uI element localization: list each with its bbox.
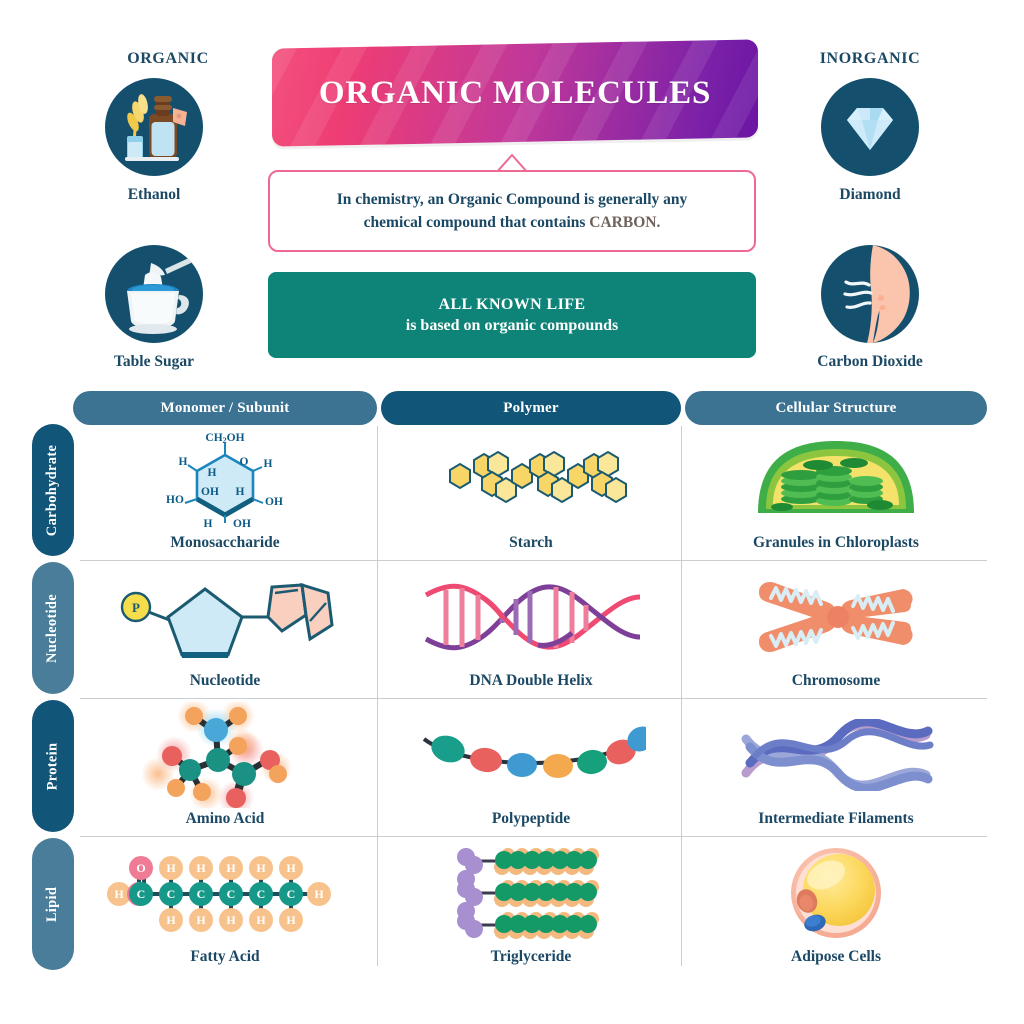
- svg-text:H: H: [196, 913, 206, 927]
- cell-nucleotide-cellular: Chromosome: [685, 562, 987, 694]
- svg-text:OH: OH: [201, 486, 219, 498]
- cell-caption: Polypeptide: [492, 810, 570, 828]
- example-ethanol: Ethanol: [54, 78, 254, 204]
- exhaling-face-icon: [821, 245, 919, 343]
- cell-caption: Intermediate Filaments: [758, 810, 913, 828]
- column-divider: [681, 426, 682, 966]
- svg-text:H: H: [226, 913, 236, 927]
- chloroplast-granules-icon: [685, 424, 987, 534]
- svg-text:CH2OH: CH2OH: [205, 432, 244, 445]
- svg-text:OH: OH: [233, 518, 251, 529]
- row-label-nucleotide: Nucleotide: [32, 562, 74, 694]
- example-label: Ethanol: [54, 186, 254, 204]
- cell-caption: Adipose Cells: [791, 948, 881, 966]
- example-label: Table Sugar: [54, 353, 254, 371]
- triglyceride-icon: [381, 838, 681, 948]
- cell-caption: Amino Acid: [186, 810, 265, 828]
- sugar-cup-icon: [105, 245, 203, 343]
- svg-text:H: H: [226, 861, 236, 875]
- cell-lipid-monomer: H O O C C C C C C: [73, 838, 377, 970]
- ethanol-bottle-icon: [105, 78, 203, 176]
- cell-nucleotide-monomer: P Nucleotide: [73, 562, 377, 694]
- svg-text:H: H: [264, 458, 273, 470]
- callout-carbon-highlight: CARBON.: [589, 214, 660, 231]
- row-label-text: Carbohydrate: [45, 444, 62, 535]
- svg-text:O: O: [136, 861, 145, 875]
- svg-text:H: H: [166, 861, 176, 875]
- example-label: Carbon Dioxide: [770, 353, 970, 371]
- nucleotide-icon: P: [73, 562, 377, 672]
- inorganic-category-label: INORGANIC: [770, 50, 970, 68]
- starch-icon: [381, 424, 681, 534]
- example-diamond: Diamond: [770, 78, 970, 204]
- cell-caption: Chromosome: [792, 672, 880, 690]
- cell-protein-cellular: Intermediate Filaments: [685, 700, 987, 832]
- row-divider: [80, 836, 987, 837]
- cell-protein-monomer: Amino Acid: [73, 700, 377, 832]
- row-divider: [80, 560, 987, 561]
- svg-text:C: C: [167, 887, 176, 901]
- row-divider: [80, 698, 987, 699]
- cell-caption: Fatty Acid: [190, 948, 259, 966]
- banner-line-1: ALL KNOWN LIFE: [439, 296, 586, 314]
- infographic-canvas: ORGANIC INORGANIC: [0, 0, 1024, 1024]
- callout-pointer: [495, 152, 529, 172]
- top-section: ORGANIC INORGANIC: [0, 0, 1024, 380]
- svg-text:H: H: [114, 887, 124, 901]
- cell-caption: DNA Double Helix: [469, 672, 592, 690]
- cell-caption: Starch: [509, 534, 553, 552]
- banner-line-2: is based on organic compounds: [406, 317, 619, 335]
- row-label-carbohydrate: Carbohydrate: [32, 424, 74, 556]
- example-carbon-dioxide: Carbon Dioxide: [770, 245, 970, 371]
- diamond-icon: [821, 78, 919, 176]
- svg-text:H: H: [286, 861, 296, 875]
- svg-text:H: H: [256, 913, 266, 927]
- row-label-text: Nucleotide: [45, 593, 62, 662]
- column-header-polymer: Polymer: [381, 391, 681, 425]
- svg-text:O: O: [240, 456, 249, 468]
- fatty-acid-icon: H O O C C C C C C: [73, 838, 377, 948]
- cell-nucleotide-polymer: DNA Double Helix: [381, 562, 681, 694]
- callout-line-2-text: chemical compound that contains: [364, 214, 590, 231]
- column-divider: [377, 426, 378, 966]
- svg-text:H: H: [179, 456, 188, 468]
- cell-protein-polymer: Polypeptide: [381, 700, 681, 832]
- svg-text:C: C: [137, 887, 146, 901]
- polypeptide-icon: [381, 700, 681, 810]
- svg-text:H: H: [196, 861, 206, 875]
- svg-text:P: P: [132, 600, 140, 615]
- page-title: ORGANIC MOLECULES: [272, 44, 758, 142]
- column-header-cellular-structure: Cellular Structure: [685, 391, 987, 425]
- svg-text:H: H: [286, 913, 296, 927]
- svg-text:C: C: [287, 887, 296, 901]
- svg-text:C: C: [197, 887, 206, 901]
- cell-carbohydrate-polymer: Starch: [381, 424, 681, 556]
- cell-carbohydrate-monomer: CH2OH O H H H HO OH H OH H OH Monosaccha…: [73, 424, 377, 556]
- svg-text:H: H: [256, 861, 266, 875]
- definition-callout: In chemistry, an Organic Compound is gen…: [268, 170, 756, 252]
- callout-line-1: In chemistry, an Organic Compound is gen…: [337, 191, 688, 208]
- chromosome-icon: [685, 562, 987, 672]
- svg-text:OH: OH: [265, 496, 283, 508]
- row-label-lipid: Lipid: [32, 838, 74, 970]
- adipose-cell-icon: [685, 838, 987, 948]
- svg-text:H: H: [314, 887, 324, 901]
- example-table-sugar: Table Sugar: [54, 245, 254, 371]
- row-label-text: Protein: [45, 742, 62, 790]
- svg-text:H: H: [204, 518, 213, 529]
- all-known-life-banner: ALL KNOWN LIFE is based on organic compo…: [268, 272, 756, 358]
- svg-text:H: H: [208, 467, 217, 479]
- cell-caption: Nucleotide: [190, 672, 261, 690]
- svg-text:H: H: [236, 486, 245, 498]
- svg-text:C: C: [257, 887, 266, 901]
- column-header-monomer: Monomer / Subunit: [73, 391, 377, 425]
- cell-caption: Granules in Chloroplasts: [753, 534, 919, 552]
- svg-text:HO: HO: [166, 494, 184, 506]
- example-label: Diamond: [770, 186, 970, 204]
- biomolecule-table: Monomer / Subunit Polymer Cellular Struc…: [0, 386, 1024, 1016]
- row-label-text: Lipid: [44, 886, 61, 921]
- row-label-protein: Protein: [32, 700, 74, 832]
- cell-caption: Triglyceride: [491, 948, 572, 966]
- cell-carbohydrate-cellular: Granules in Chloroplasts: [685, 424, 987, 556]
- cell-caption: Monosaccharide: [170, 534, 279, 552]
- svg-text:H: H: [166, 913, 176, 927]
- monosaccharide-icon: CH2OH O H H H HO OH H OH H OH: [73, 424, 377, 534]
- cell-lipid-cellular: Adipose Cells: [685, 838, 987, 970]
- svg-text:C: C: [227, 887, 236, 901]
- cell-lipid-polymer: Triglyceride: [381, 838, 681, 970]
- intermediate-filaments-icon: [685, 700, 987, 810]
- organic-category-label: ORGANIC: [68, 50, 268, 68]
- dna-double-helix-icon: [381, 562, 681, 672]
- amino-acid-icon: [73, 700, 377, 810]
